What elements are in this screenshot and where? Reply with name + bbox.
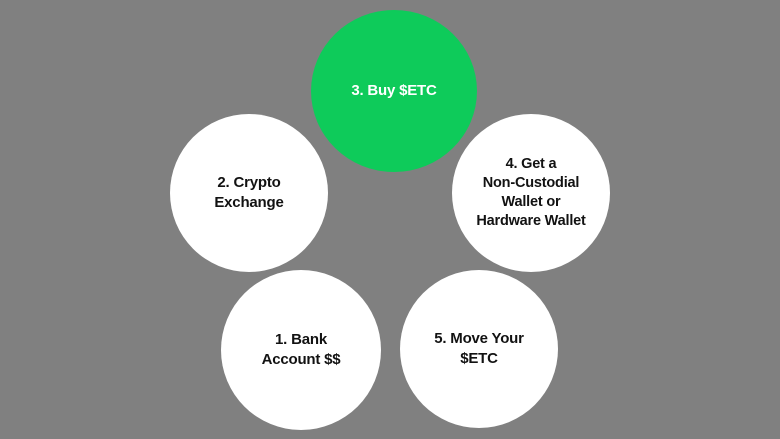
diagram-node-bank-account[interactable]: 1. Bank Account $$	[221, 270, 381, 430]
diagram-node-label: 5. Move Your $ETC	[428, 329, 530, 369]
diagram-node-label: 3. Buy $ETC	[345, 81, 442, 101]
diagram-node-label: 1. Bank Account $$	[256, 330, 347, 370]
diagram-node-get-wallet[interactable]: 4. Get a Non-Custodial Wallet or Hardwar…	[452, 114, 610, 272]
diagram-node-crypto-exchange[interactable]: 2. Crypto Exchange	[170, 114, 328, 272]
diagram-node-buy-etc[interactable]: 3. Buy $ETC	[311, 10, 477, 172]
diagram-node-label: 2. Crypto Exchange	[208, 173, 289, 213]
diagram-canvas: 2. Crypto Exchange 3. Buy $ETC 4. Get a …	[0, 0, 780, 439]
diagram-node-move-etc[interactable]: 5. Move Your $ETC	[400, 270, 558, 428]
diagram-node-label: 4. Get a Non-Custodial Wallet or Hardwar…	[470, 155, 591, 232]
